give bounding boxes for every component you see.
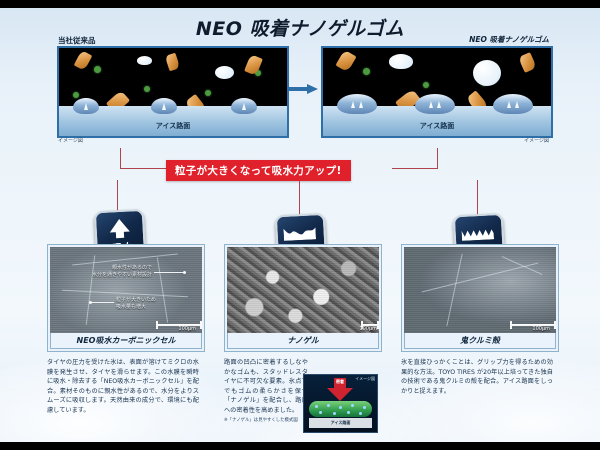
absorb-arrow-icon <box>429 101 433 108</box>
particle-dot <box>144 86 150 92</box>
column-absorb: タイヤの圧力を受けた氷は、表面が溶けてミクロの水膜を発生させ、タイヤを滑らせます… <box>47 358 199 416</box>
scale-label: 100μm <box>178 326 196 332</box>
scale-label: 100μm <box>359 326 377 332</box>
transition-arrow-icon <box>288 84 318 94</box>
image-note-left: イメージ図 <box>58 137 83 144</box>
banner-connector <box>120 168 168 169</box>
micrograph-image-carbonic-cell: 親水性があるので水分を通きやすい素材設計 粒子が大きいため吸水量も増大 100μ… <box>50 247 202 333</box>
column-body: タイヤの圧力を受けた氷は、表面が溶けてミクロの水膜を発生させ、タイヤを滑らせます… <box>47 358 199 416</box>
water-film-bump-large <box>337 94 377 114</box>
panel-label-conventional: 当社従来品 <box>58 35 96 46</box>
walnut-shard <box>518 52 537 73</box>
nanogel-block <box>309 401 372 417</box>
adhesion-arrow-icon: 密着 <box>327 378 353 402</box>
absorb-arrow-icon <box>162 103 166 110</box>
annotation-dot <box>183 271 186 274</box>
absorb-arrow-icon <box>437 101 441 108</box>
water-droplet-large <box>389 54 413 69</box>
annotation-leader-line <box>92 302 114 303</box>
particle-dot <box>94 66 101 73</box>
diagram-panel-conventional: アイス路面 <box>57 46 289 138</box>
badge-connector <box>117 180 118 212</box>
micrograph-image-walnut-shell: 100μm <box>404 247 556 333</box>
micrograph-card-walnut-shell: 100μm 鬼クルミ殻 <box>401 244 559 352</box>
walnut-shard <box>335 50 356 73</box>
scale-bar <box>156 324 202 326</box>
column-footnote: ※「ナノゲル」は見やすくした模式図 <box>224 418 308 424</box>
inset-arrow-label: 密着 <box>327 379 353 385</box>
wave-icon <box>283 225 316 241</box>
water-film-bump <box>231 98 257 114</box>
absorb-arrow-icon <box>515 101 519 108</box>
particle-dot <box>423 82 429 88</box>
adhesion-inset-diagram: イメージ図 密着 アイス路面 <box>303 374 378 433</box>
micrograph-annotation-1: 親水性があるので水分を通きやすい素材設計 <box>76 265 152 279</box>
ice-road-label: アイス路面 <box>323 121 551 131</box>
scale-bar <box>361 324 379 326</box>
particle-dot <box>205 90 211 96</box>
absorb-arrow-icon <box>242 103 246 110</box>
absorb-arrow-icon <box>351 101 355 108</box>
column-body: 路面の凹凸に密着するしなやかなゴムも、スタッドレスタイヤに不可欠な要素。氷点下で… <box>224 358 308 416</box>
inset-image-note: イメージ図 <box>355 376 375 382</box>
highlight-banner: 粒子が大きくなって吸水力アップ! <box>166 160 351 181</box>
particle-dot <box>363 68 370 75</box>
water-film-bump <box>151 98 177 114</box>
annotation-dot <box>89 301 92 304</box>
annotation-leader-line <box>154 272 184 273</box>
water-droplet-large <box>473 60 501 86</box>
micrograph-card-nanogel: 100μm ナノゲル <box>224 244 382 352</box>
micrograph-card-carbonic-cell: 親水性があるので水分を通きやすい素材設計 粒子が大きいため吸水量も増大 100μ… <box>47 244 205 352</box>
micrograph-caption: ナノゲル <box>227 333 379 349</box>
ice-road-label: アイス路面 <box>59 121 287 131</box>
water-droplet <box>137 56 152 65</box>
infographic-root: NEO 吸着ナノゲルゴム 当社従来品 NEO 吸着ナノゲルゴム アイス路面 <box>0 0 600 450</box>
water-film-bump-large <box>493 94 533 114</box>
column-body: 氷を直接ひっかくことは、グリップ力を得るための効果的な方法。TOYO TIRES… <box>401 358 553 396</box>
micrograph-caption: NEO吸水カーボニックセル <box>50 333 202 349</box>
absorb-arrow-icon <box>84 103 88 110</box>
banner-connector <box>120 148 121 169</box>
micrograph-caption: 鬼クルミ殻 <box>404 333 556 349</box>
walnut-shard <box>165 53 180 72</box>
water-droplet <box>215 66 234 79</box>
walnut-shard <box>74 50 93 71</box>
particle-dot <box>73 92 79 98</box>
banner-connector <box>437 148 438 169</box>
scale-label: 100μm <box>532 326 550 332</box>
banner-connector <box>392 168 438 169</box>
micrograph-annotation-2: 粒子が大きいため吸水量も増大 <box>116 297 188 311</box>
water-film-bump-large <box>415 94 455 114</box>
scale-bar <box>510 324 556 326</box>
sawtooth-icon <box>461 225 494 241</box>
inset-road-label: アイス路面 <box>309 418 372 428</box>
badge-connector <box>299 180 300 216</box>
image-note-right: イメージ図 <box>524 137 549 144</box>
absorb-arrow-icon <box>507 101 511 108</box>
diagram-panel-neo: アイス路面 <box>321 46 553 138</box>
sheet-background: NEO 吸着ナノゲルゴム 当社従来品 NEO 吸着ナノゲルゴム アイス路面 <box>0 8 600 442</box>
column-scratch: 氷を直接ひっかくことは、グリップ力を得るための効果的な方法。TOYO TIRES… <box>401 358 553 396</box>
up-arrow-stem-icon <box>116 230 124 238</box>
micrograph-image-nanogel: 100μm <box>227 247 379 333</box>
water-film-bump <box>73 98 99 114</box>
badge-connector <box>477 180 478 216</box>
absorb-arrow-icon <box>359 101 363 108</box>
panel-label-neo: NEO 吸着ナノゲルゴム <box>469 34 549 45</box>
